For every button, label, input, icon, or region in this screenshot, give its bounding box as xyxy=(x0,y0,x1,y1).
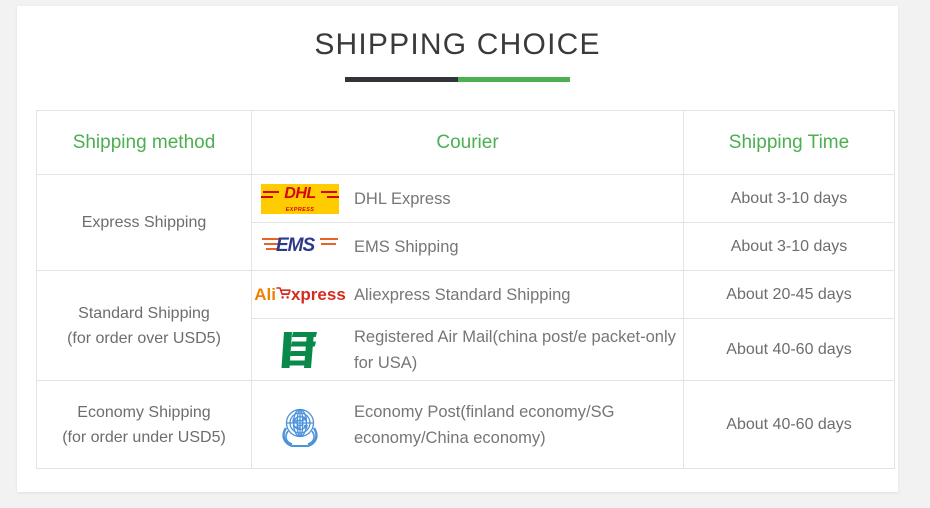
courier-name: Aliexpress Standard Shipping xyxy=(348,282,570,308)
method-label-line1: Economy Shipping xyxy=(37,400,251,425)
aliexpress-logo-part2: xpress xyxy=(291,285,346,305)
logo-slot: DHL EXPRESS xyxy=(252,184,348,214)
logo-slot: EMS xyxy=(252,232,348,262)
title-divider xyxy=(345,77,570,82)
aliexpress-logo-part1: Ali xyxy=(254,285,276,305)
shipping-time-value: About 3-10 days xyxy=(684,175,895,223)
logo-slot xyxy=(252,328,348,372)
column-header-shipping-method: Shipping method xyxy=(37,111,252,175)
courier-name: EMS Shipping xyxy=(348,234,459,260)
table-row: Express Shipping DHL xyxy=(37,175,895,223)
table-header-row: Shipping method Courier Shipping Time xyxy=(37,111,895,175)
method-label-line2: (for order under USD5) xyxy=(37,425,251,450)
method-label-line1: Standard Shipping xyxy=(37,301,251,326)
shipping-time-value: About 40-60 days xyxy=(684,319,895,381)
china-post-logo xyxy=(277,328,323,372)
courier-cell-aliexpress: Ali xpress xyxy=(252,271,684,319)
shipping-table-wrapper: Shipping method Courier Shipping Time Ex… xyxy=(36,110,894,469)
shipping-choice-card: SHIPPING CHOICE Shipping method Courier … xyxy=(17,6,898,492)
method-cell-express: Express Shipping xyxy=(37,175,252,271)
shipping-table: Shipping method Courier Shipping Time Ex… xyxy=(36,110,895,469)
shipping-time-value: About 3-10 days xyxy=(684,223,895,271)
courier-name: Registered Air Mail(china post/e packet-… xyxy=(348,324,683,376)
column-header-courier: Courier xyxy=(252,111,684,175)
divider-dark-half xyxy=(345,77,458,82)
logo-slot xyxy=(252,398,348,452)
dhl-logo-word: DHL xyxy=(261,185,339,203)
un-logo xyxy=(273,398,327,452)
method-label-line2: (for order over USD5) xyxy=(37,326,251,351)
courier-cell-china-post: Registered Air Mail(china post/e packet-… xyxy=(252,319,684,381)
shopping-cart-icon xyxy=(276,285,291,305)
courier-name: DHL Express xyxy=(348,186,451,212)
aliexpress-logo: Ali xpress xyxy=(254,285,346,305)
courier-name: Economy Post(finland economy/SG economy/… xyxy=(348,399,683,451)
courier-cell-ems: EMS EMS Shipping xyxy=(252,223,684,271)
header-block: SHIPPING CHOICE xyxy=(17,6,898,82)
dhl-logo-subword: EXPRESS xyxy=(261,207,339,213)
ems-logo-word: EMS xyxy=(276,235,314,257)
ems-logo: EMS xyxy=(260,232,340,262)
method-cell-economy: Economy Shipping (for order under USD5) xyxy=(37,381,252,469)
dhl-logo: DHL EXPRESS xyxy=(261,184,339,214)
column-header-shipping-time: Shipping Time xyxy=(684,111,895,175)
courier-cell-economy-post: Economy Post(finland economy/SG economy/… xyxy=(252,381,684,469)
shipping-time-value: About 20-45 days xyxy=(684,271,895,319)
page-title: SHIPPING CHOICE xyxy=(17,30,898,60)
divider-green-half xyxy=(458,77,571,82)
method-label-line1: Express Shipping xyxy=(82,214,207,231)
table-row: Standard Shipping (for order over USD5) … xyxy=(37,271,895,319)
logo-slot: Ali xpress xyxy=(252,285,348,305)
method-cell-standard: Standard Shipping (for order over USD5) xyxy=(37,271,252,381)
courier-cell-dhl: DHL EXPRESS DHL Express xyxy=(252,175,684,223)
shipping-time-value: About 40-60 days xyxy=(684,381,895,469)
table-row: Economy Shipping (for order under USD5) xyxy=(37,381,895,469)
